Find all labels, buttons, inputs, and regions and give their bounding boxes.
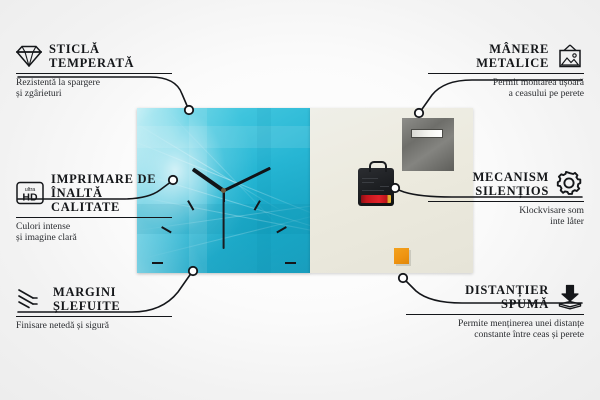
callout-metal-handles: MÂNERE METALICE Permit montarea ușoară a…	[428, 42, 584, 100]
glass-band	[137, 126, 310, 148]
svg-text:HD: HD	[22, 192, 38, 204]
clock-center-cap	[221, 188, 226, 193]
movement-detail	[362, 178, 378, 179]
polished-edges-icon	[16, 288, 46, 310]
callout-description: Permite menținerea unei distanțe constan…	[406, 318, 584, 341]
clock-tick	[285, 262, 296, 264]
movement-detail	[362, 190, 384, 191]
hanger-slot	[411, 129, 443, 138]
callout-header: MÂNERE METALICE	[428, 42, 584, 70]
quartz-movement	[358, 168, 394, 206]
callout-description: Permit montarea ușoară a ceasului pe per…	[428, 77, 584, 100]
hanger-loop	[369, 161, 387, 172]
callout-title: MARGINI ȘLEFUITE	[53, 285, 120, 313]
callout-header: ultra HD IMPRIMARE DE ÎNALTĂ CALITATE	[16, 172, 172, 214]
callout-title: DISTANȚIER SPUMĂ	[465, 283, 549, 311]
battery	[361, 195, 391, 203]
callout-rule	[428, 73, 584, 74]
callout-rule	[428, 201, 584, 202]
down-arrow-stack-icon	[556, 284, 584, 310]
callout-header: DISTANȚIER SPUMĂ	[406, 283, 584, 311]
callout-description: Finisare netedă și sigură	[16, 320, 172, 331]
clock-second-hand	[223, 191, 225, 249]
wire-endpoint-dot	[399, 274, 407, 282]
clock-tick	[152, 262, 163, 264]
callout-header: STICLĂ TEMPERATĂ	[16, 42, 172, 70]
foam-spacer	[394, 248, 409, 264]
metal-hanger-plate	[402, 118, 454, 171]
callout-polished-edges: MARGINI ȘLEFUITE Finisare netedă și sigu…	[16, 285, 172, 331]
callout-rule	[406, 314, 584, 315]
callout-title: MECANISM SILENȚIOS	[473, 170, 549, 198]
callout-description: Culori intense și imagine clară	[16, 221, 172, 244]
callout-header: MECANISM SILENȚIOS	[428, 170, 584, 198]
callout-foam-spacer: DISTANȚIER SPUMĂ Permite menținerea unei…	[406, 283, 584, 341]
callout-title: STICLĂ TEMPERATĂ	[49, 42, 134, 70]
product-image	[137, 108, 473, 273]
callout-high-quality-print: ultra HD IMPRIMARE DE ÎNALTĂ CALITATE Cu…	[16, 172, 172, 244]
callout-rule	[16, 73, 172, 74]
callout-description: Klockvisare som inte låter	[428, 205, 584, 228]
callout-title: IMPRIMARE DE ÎNALTĂ CALITATE	[51, 172, 172, 214]
ultra-hd-icon: ultra HD	[16, 181, 44, 205]
gear-icon	[556, 171, 584, 197]
callout-title: MÂNERE METALICE	[476, 42, 549, 70]
movement-detail	[362, 182, 374, 183]
callout-description: Rezistentă la spargere și zgârieturi	[16, 77, 172, 100]
diamond-icon	[16, 45, 42, 67]
infographic-canvas: STICLĂ TEMPERATĂ Rezistentă la spargere …	[0, 0, 600, 400]
movement-detail	[380, 186, 389, 187]
picture-frame-icon	[556, 44, 584, 68]
callout-header: MARGINI ȘLEFUITE	[16, 285, 172, 313]
callout-silent-mechanism: MECANISM SILENȚIOS Klockvisare som inte …	[428, 170, 584, 228]
callout-rule	[16, 316, 172, 317]
callout-rule	[16, 217, 172, 218]
callout-tempered-glass: STICLĂ TEMPERATĂ Rezistentă la spargere …	[16, 42, 172, 100]
